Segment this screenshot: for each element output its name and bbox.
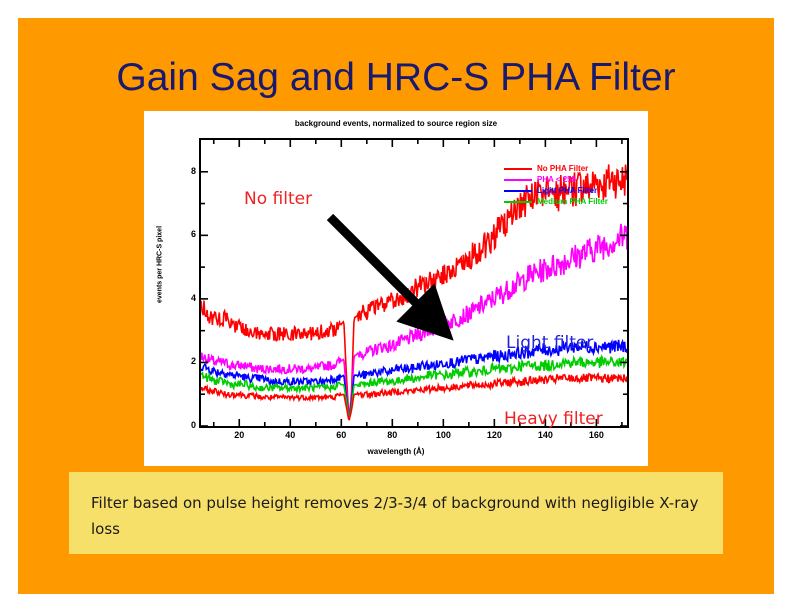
figure-panel: background events, normalized to source …	[144, 111, 648, 466]
legend-swatch	[504, 168, 532, 170]
y-tick-label: 6	[178, 229, 196, 239]
x-tick-label: 140	[530, 430, 560, 440]
annotation-no-filter: No filter	[244, 189, 312, 209]
y-axis-tick-labels: 02468	[174, 138, 196, 428]
legend-label: PHA < 255	[537, 174, 576, 185]
legend-item: Medium PHA Filter	[504, 196, 634, 207]
legend-label: Medium PHA Filter	[537, 196, 608, 207]
x-tick-label: 40	[275, 430, 305, 440]
legend-label: No PHA Filter	[537, 163, 588, 174]
y-tick-label: 4	[178, 293, 196, 303]
page-title: Gain Sag and HRC-S PHA Filter	[18, 56, 774, 100]
x-tick-label: 80	[377, 430, 407, 440]
legend-swatch	[504, 190, 532, 192]
x-tick-label: 100	[428, 430, 458, 440]
legend-item: No PHA Filter	[504, 163, 634, 174]
x-tick-label: 120	[479, 430, 509, 440]
legend-item: Light PHA Filter	[504, 185, 634, 196]
slide: Gain Sag and HRC-S PHA Filter background…	[18, 18, 774, 594]
x-axis-label: wavelength (Å)	[144, 447, 648, 456]
legend-label: Light PHA Filter	[537, 185, 597, 196]
y-tick-label: 8	[178, 166, 196, 176]
x-tick-label: 20	[224, 430, 254, 440]
legend-swatch	[504, 201, 532, 203]
y-tick-label: 2	[178, 356, 196, 366]
y-axis-label: events per HRC-S pixel	[157, 175, 164, 355]
chart-legend: No PHA FilterPHA < 255Light PHA FilterMe…	[504, 163, 634, 207]
x-tick-label: 160	[581, 430, 611, 440]
annotation-light-filter: Light filter	[506, 333, 593, 353]
y-tick-label: 0	[178, 420, 196, 430]
x-tick-label: 60	[326, 430, 356, 440]
annotation-heavy-filter: Heavy filter	[504, 409, 603, 429]
legend-swatch	[504, 179, 532, 181]
caption-box: Filter based on pulse height removes 2/3…	[69, 472, 723, 554]
chart-title: background events, normalized to source …	[144, 119, 648, 128]
x-axis-tick-labels: 20406080100120140160	[199, 430, 629, 446]
legend-item: PHA < 255	[504, 174, 634, 185]
